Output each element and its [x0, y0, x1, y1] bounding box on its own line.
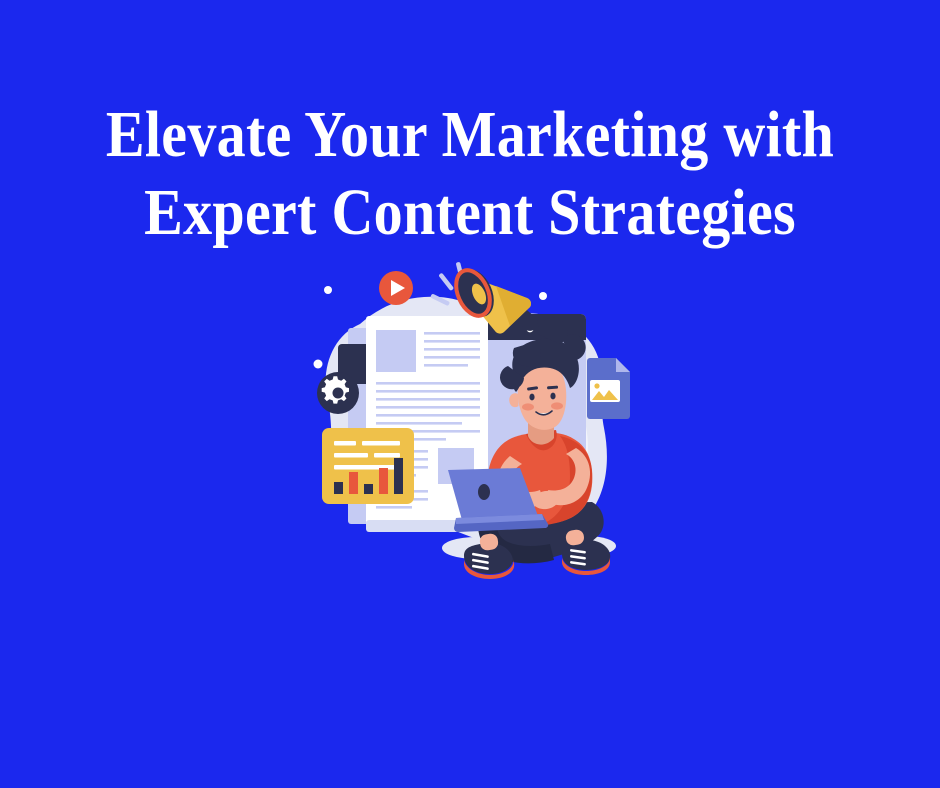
poster-canvas: Elevate Your Marketing with Expert Conte…: [0, 0, 940, 788]
image-file-icon: [587, 358, 630, 419]
gear-icon: [322, 376, 349, 403]
analytics-bar: [364, 484, 373, 494]
image-file-thumb-sun: [594, 383, 599, 388]
analytics-card-lines: [334, 441, 400, 470]
sneaker-right: [562, 540, 610, 575]
play-button: [379, 271, 413, 305]
page-title: Elevate Your Marketing with Expert Conte…: [56, 96, 883, 252]
gear-badge: [317, 372, 359, 414]
content-marketing-illustration: [298, 252, 642, 604]
laptop-logo: [478, 484, 490, 500]
floating-dot: [324, 286, 332, 294]
article-image-block-top: [376, 330, 416, 372]
floating-dot: [314, 360, 323, 369]
analytics-bar: [379, 468, 388, 494]
analytics-bar: [394, 458, 403, 494]
analytics-bar: [334, 482, 343, 494]
image-file-icon-fold: [616, 358, 630, 372]
floating-dot: [539, 292, 547, 300]
analytics-bar: [349, 472, 358, 494]
analytics-card-group: [322, 428, 414, 504]
